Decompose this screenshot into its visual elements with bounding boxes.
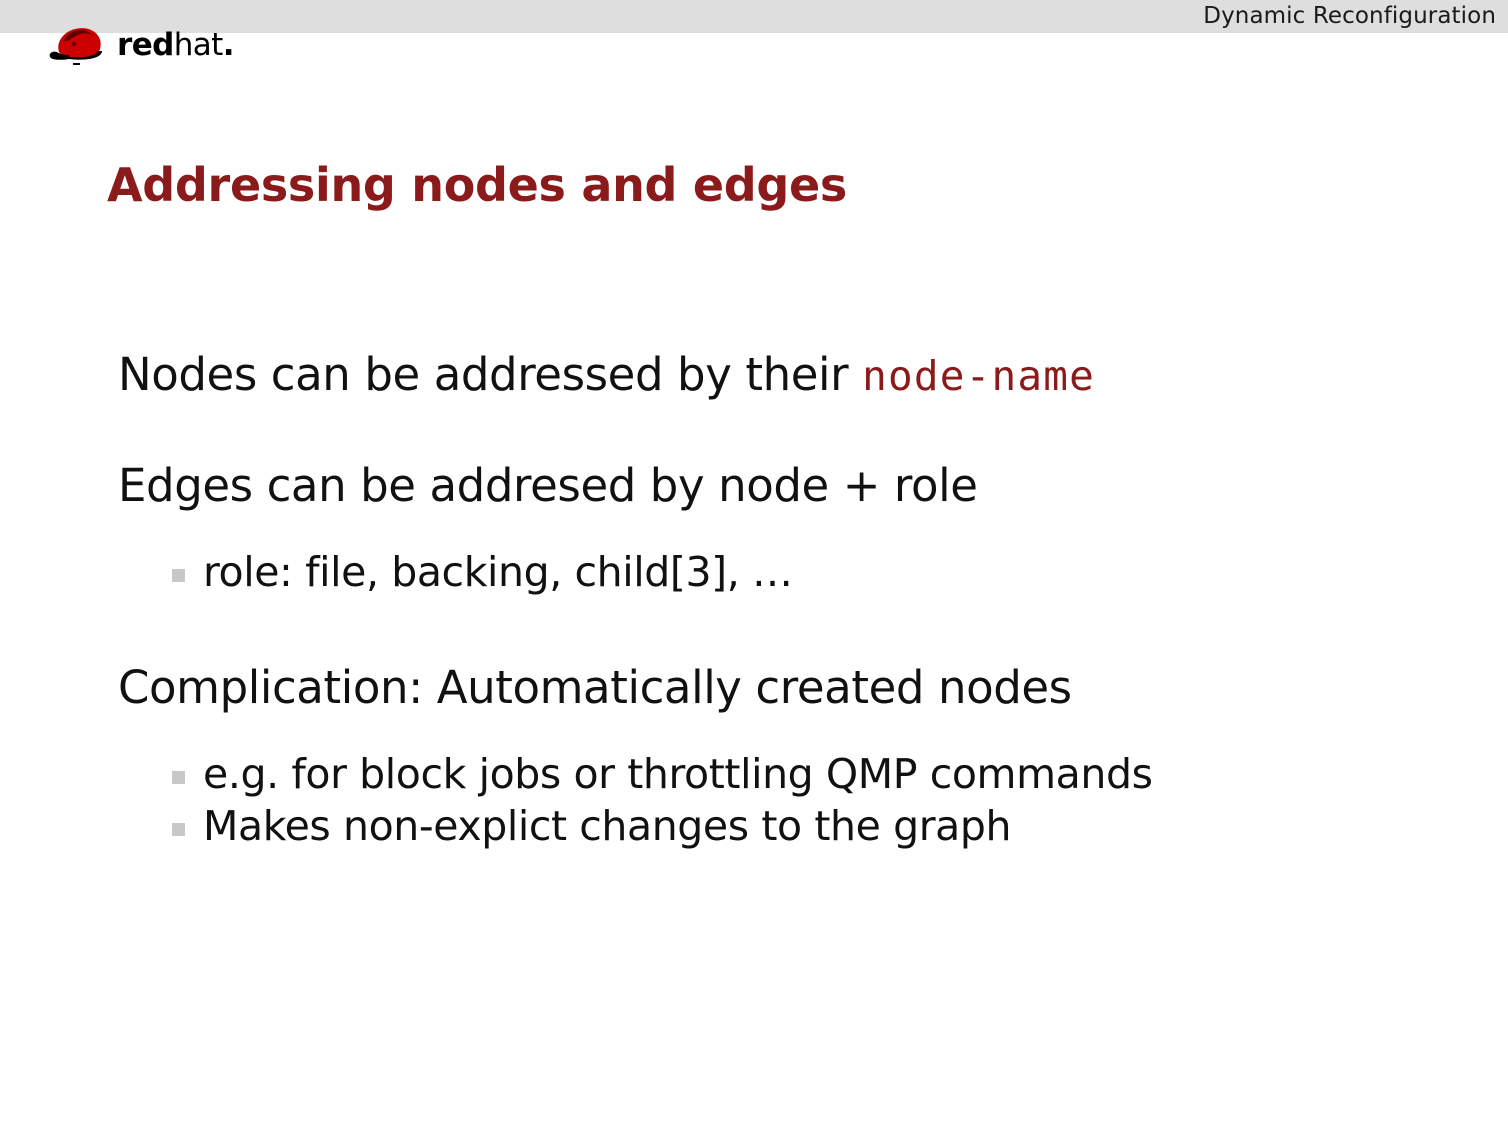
logo-word-dot: . — [223, 27, 234, 63]
subbullet-block-jobs-text: e.g. for block jobs or throttling QMP co… — [203, 750, 1153, 798]
spacer-2 — [0, 514, 1508, 546]
node-name-code: node-name — [862, 352, 1095, 400]
redhat-logo: redhat. — [47, 22, 247, 70]
bullet-group-nodes: Nodes can be addressed by their node-nam… — [0, 347, 1508, 404]
slide-body: Nodes can be addressed by their node-nam… — [0, 347, 1508, 852]
node-name-code-text: node-name — [862, 352, 1095, 400]
subbullet-block-jobs: e.g. for block jobs or throttling QMP co… — [0, 748, 1508, 800]
bullet-nodes-text: Nodes can be addressed by their — [118, 348, 862, 401]
subbullet-role-examples: role: file, backing, child[3], … — [0, 546, 1508, 598]
spacer-1 — [0, 404, 1508, 458]
subbullet-non-explicit-changes: Makes non-explict changes to the graph — [0, 800, 1508, 852]
slide-title: Addressing nodes and edges — [107, 157, 847, 213]
bullet-complication-text: Complication: Automatically created node… — [118, 661, 1072, 714]
spacer-3 — [0, 598, 1508, 660]
square-bullet-icon — [172, 569, 185, 582]
bullet-group-edges: Edges can be addresed by node + role rol… — [0, 458, 1508, 598]
bullet-complication: Complication: Automatically created node… — [0, 660, 1508, 716]
bullet-nodes-addressing: Nodes can be addressed by their node-nam… — [0, 347, 1508, 404]
bullet-edges-text-post: role — [880, 459, 978, 512]
bullet-edges-addressing: Edges can be addresed by node + role — [0, 458, 1508, 514]
bullet-group-complication: Complication: Automatically created node… — [0, 660, 1508, 852]
logo-word-hat: hat — [174, 27, 223, 63]
subbullet-non-explicit-changes-text: Makes non-explict changes to the graph — [203, 802, 1011, 850]
square-bullet-icon — [172, 771, 185, 784]
square-bullet-icon — [172, 823, 185, 836]
redhat-shadowman-icon — [47, 22, 113, 66]
plus-icon: + — [843, 459, 880, 512]
redhat-wordmark: redhat. — [117, 28, 234, 62]
subbullet-role-text: role: file, backing, child[3], … — [203, 548, 793, 596]
logo-word-red: red — [117, 27, 174, 63]
slide-header-title: Dynamic Reconfiguration — [1203, 1, 1496, 31]
bullet-edges-text-pre: Edges can be addresed by node — [118, 459, 843, 512]
spacer-4 — [0, 716, 1508, 748]
